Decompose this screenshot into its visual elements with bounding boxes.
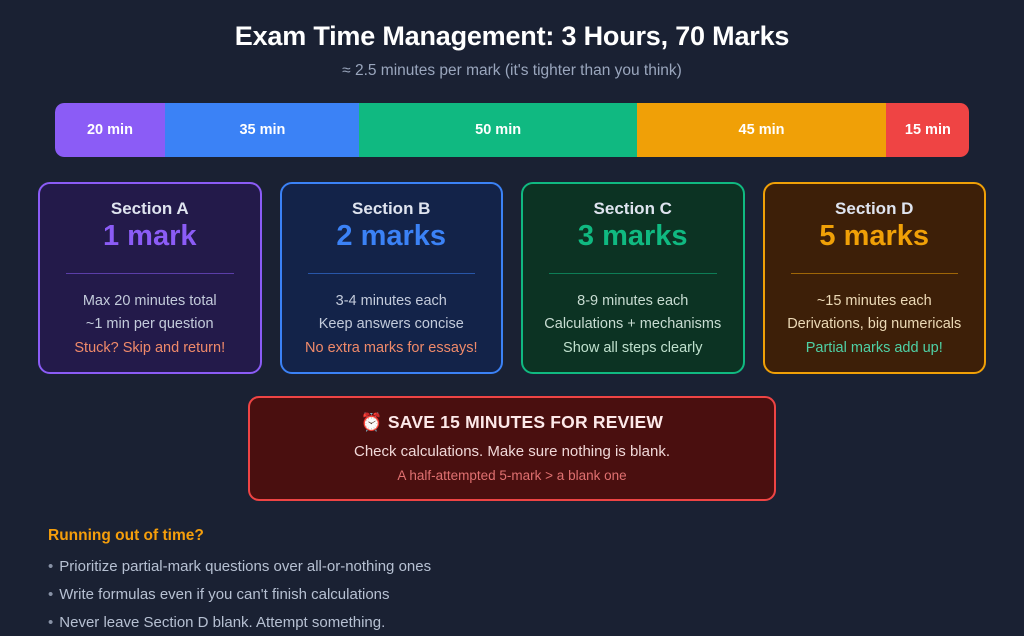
page-title: Exam Time Management: 3 Hours, 70 Marks	[0, 20, 1024, 52]
section-card-marks: 5 marks	[775, 220, 975, 253]
section-card-detail-line: ~15 minutes each	[775, 290, 975, 314]
timeline-segment-2: 35 min	[165, 103, 359, 157]
tips-list-item-text: Write formulas even if you can't finish …	[59, 586, 389, 603]
section-card-name: Section B	[292, 198, 492, 219]
section-card-divider	[791, 273, 959, 274]
section-card-detail-line: 3-4 minutes each	[292, 290, 492, 314]
section-card-divider	[66, 273, 234, 274]
section-card-c: Section C3 marks8-9 minutes eachCalculat…	[521, 182, 745, 374]
section-card-detail-line: Calculations + mechanisms	[533, 313, 733, 337]
timeline-segment-4: 45 min	[637, 103, 887, 157]
section-card-name: Section D	[775, 198, 975, 219]
section-card-divider	[308, 273, 476, 274]
section-card-a: Section A1 markMax 20 minutes total~1 mi…	[38, 182, 262, 374]
tips-list-item: •Prioritize partial-mark questions over …	[48, 553, 1024, 581]
section-card-marks: 2 marks	[292, 220, 492, 253]
timeline-segment-label: 45 min	[739, 122, 785, 138]
timeline-segment-label: 50 min	[475, 122, 521, 138]
section-card-marks: 1 mark	[50, 220, 250, 253]
alarm-clock-icon: ⏰	[361, 412, 383, 432]
section-card-detail-line: Derivations, big numericals	[775, 313, 975, 337]
bullet-icon: •	[48, 558, 53, 575]
section-card-detail-line: No extra marks for essays!	[292, 337, 492, 361]
timeline-segment-label: 20 min	[87, 122, 133, 138]
section-cards: Section A1 markMax 20 minutes total~1 mi…	[38, 182, 986, 374]
section-card-b: Section B2 marks3-4 minutes eachKeep ans…	[280, 182, 504, 374]
tips-list-item-text: Never leave Section D blank. Attempt som…	[59, 614, 385, 631]
section-card-detail-line: Keep answers concise	[292, 313, 492, 337]
review-banner-title: ⏰ SAVE 15 MINUTES FOR REVIEW	[262, 412, 762, 433]
time-allocation-bar: 20 min35 min50 min45 min15 min	[55, 103, 970, 157]
header: Exam Time Management: 3 Hours, 70 Marks …	[0, 0, 1024, 81]
timeline-segment-label: 35 min	[239, 122, 285, 138]
tips-list-item: •Write formulas even if you can't finish…	[48, 581, 1024, 609]
timeline-segment-3: 50 min	[359, 103, 636, 157]
section-card-marks: 3 marks	[533, 220, 733, 253]
section-card-name: Section C	[533, 198, 733, 219]
bullet-icon: •	[48, 614, 53, 631]
bullet-icon: •	[48, 586, 53, 603]
page-subtitle: ≈ 2.5 minutes per mark (it's tighter tha…	[0, 62, 1024, 81]
section-card-detail-line: Partial marks add up!	[775, 337, 975, 361]
review-banner-note: A half-attempted 5-mark > a blank one	[262, 467, 762, 485]
review-banner-title-text: SAVE 15 MINUTES FOR REVIEW	[388, 412, 663, 432]
tips-title: Running out of time?	[48, 527, 1024, 546]
section-card-detail-line: ~1 min per question	[50, 313, 250, 337]
review-banner: ⏰ SAVE 15 MINUTES FOR REVIEW Check calcu…	[248, 396, 776, 500]
infographic-page: Exam Time Management: 3 Hours, 70 Marks …	[0, 0, 1024, 622]
timeline-segment-label: 15 min	[905, 122, 951, 138]
section-card-detail-line: Show all steps clearly	[533, 337, 733, 361]
section-card-divider	[549, 273, 717, 274]
tips-list-item-text: Prioritize partial-mark questions over a…	[59, 558, 431, 575]
section-card-detail-line: 8-9 minutes each	[533, 290, 733, 314]
section-card-d: Section D5 marks~15 minutes eachDerivati…	[763, 182, 987, 374]
timeline-segment-5: 15 min	[886, 103, 969, 157]
tips-section: Running out of time? •Prioritize partial…	[48, 527, 1024, 636]
section-card-detail-line: Max 20 minutes total	[50, 290, 250, 314]
tips-list-item: •Never leave Section D blank. Attempt so…	[48, 609, 1024, 636]
tips-list: •Prioritize partial-mark questions over …	[48, 553, 1024, 636]
review-banner-subtitle: Check calculations. Make sure nothing is…	[262, 442, 762, 462]
section-card-name: Section A	[50, 198, 250, 219]
section-card-detail-line: Stuck? Skip and return!	[50, 337, 250, 361]
timeline-segment-1: 20 min	[55, 103, 166, 157]
